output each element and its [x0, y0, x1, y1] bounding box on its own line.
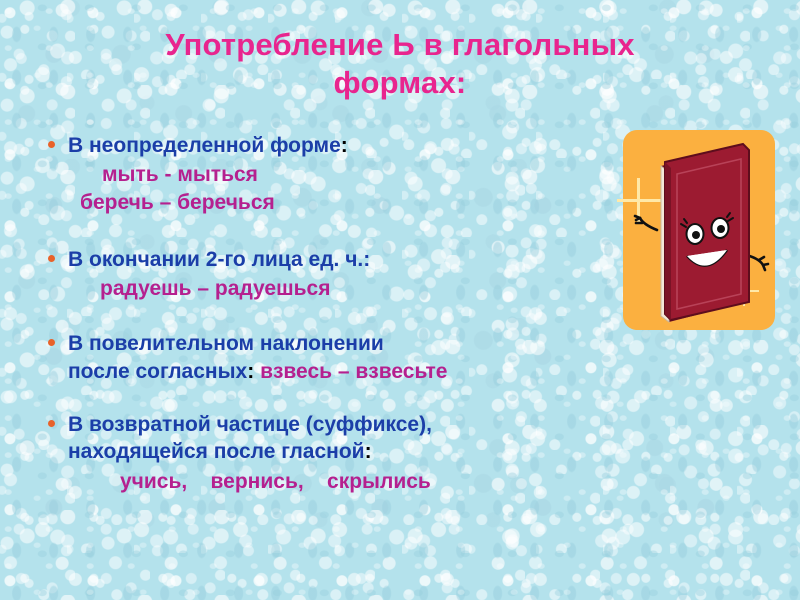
bullet-lead-cont-text-3: после согласных [68, 360, 247, 383]
bullet-lead-cont-3: после согласных: взвесь – взвесьте [68, 358, 642, 385]
bullet-dot-icon [48, 255, 55, 262]
bullet-block-4: В возвратной частице (суффиксе), находящ… [42, 411, 642, 495]
bullet-dot-icon [48, 420, 55, 427]
bullet-lead-2: В окончании 2-го лица ед. ч.: [42, 246, 642, 273]
bullet-lead-text-2: В окончании 2-го лица ед. ч.: [68, 248, 370, 271]
smiling-book-icon [615, 126, 785, 338]
bullet-lead-4: В возвратной частице (суффиксе), находящ… [42, 411, 642, 466]
bullet-block-3: В повелительном наклонении после согласн… [42, 330, 642, 385]
example-2-1: радуешь – радуешься [100, 277, 330, 300]
bullet-examples-4: учись, вернись, скрылись [42, 468, 642, 495]
bullet-lead-tail-1: : [341, 134, 348, 157]
example-1-2: беречь – беречься [80, 189, 642, 216]
page-title: Употребление Ь в глагольных формах: [60, 26, 740, 102]
bullet-lead-text-4: В возвратной частице (суффиксе), [68, 413, 432, 436]
bullet-dot-icon [48, 141, 55, 148]
bullet-lead-tail-4: : [365, 440, 372, 463]
example-4-1: учись, вернись, скрылись [120, 470, 431, 493]
bullet-lead-cont-text-4: находящейся после гласной [68, 440, 365, 463]
bullet-lead-text-1: В неопределенной форме [68, 134, 341, 157]
page-title-line-2: формах: [60, 64, 740, 102]
bullet-block-1: В неопределенной форме: мыть - мытьсябер… [42, 132, 642, 216]
bullet-lead-1: В неопределенной форме: [42, 132, 642, 159]
bullet-block-2: В окончании 2-го лица ед. ч.: радуешь – … [42, 246, 642, 303]
bullet-dot-icon [48, 339, 55, 346]
slide-content: Употребление Ь в глагольных формах: В не… [0, 0, 800, 600]
bullet-lead-cont-4: находящейся после гласной: [68, 438, 642, 465]
bullet-lead-text-3: В повелительном наклонении [68, 332, 384, 355]
bullet-list: В неопределенной форме: мыть - мытьсябер… [42, 132, 642, 512]
bullet-lead-tail-3: : [247, 360, 254, 383]
page-title-line-1: Употребление Ь в глагольных [165, 27, 634, 62]
bullet-examples-2: радуешь – радуешься [42, 275, 642, 302]
example-1-1: мыть - мыться [102, 163, 258, 186]
bullet-lead-3: В повелительном наклонении после согласн… [42, 330, 642, 385]
example-3-1: взвесь – взвесьте [260, 360, 447, 383]
bullet-examples-1: мыть - мытьсяберечь – беречься [42, 161, 642, 216]
slide: Употребление Ь в глагольных формах: В не… [0, 0, 800, 600]
book-illustration [615, 126, 785, 336]
